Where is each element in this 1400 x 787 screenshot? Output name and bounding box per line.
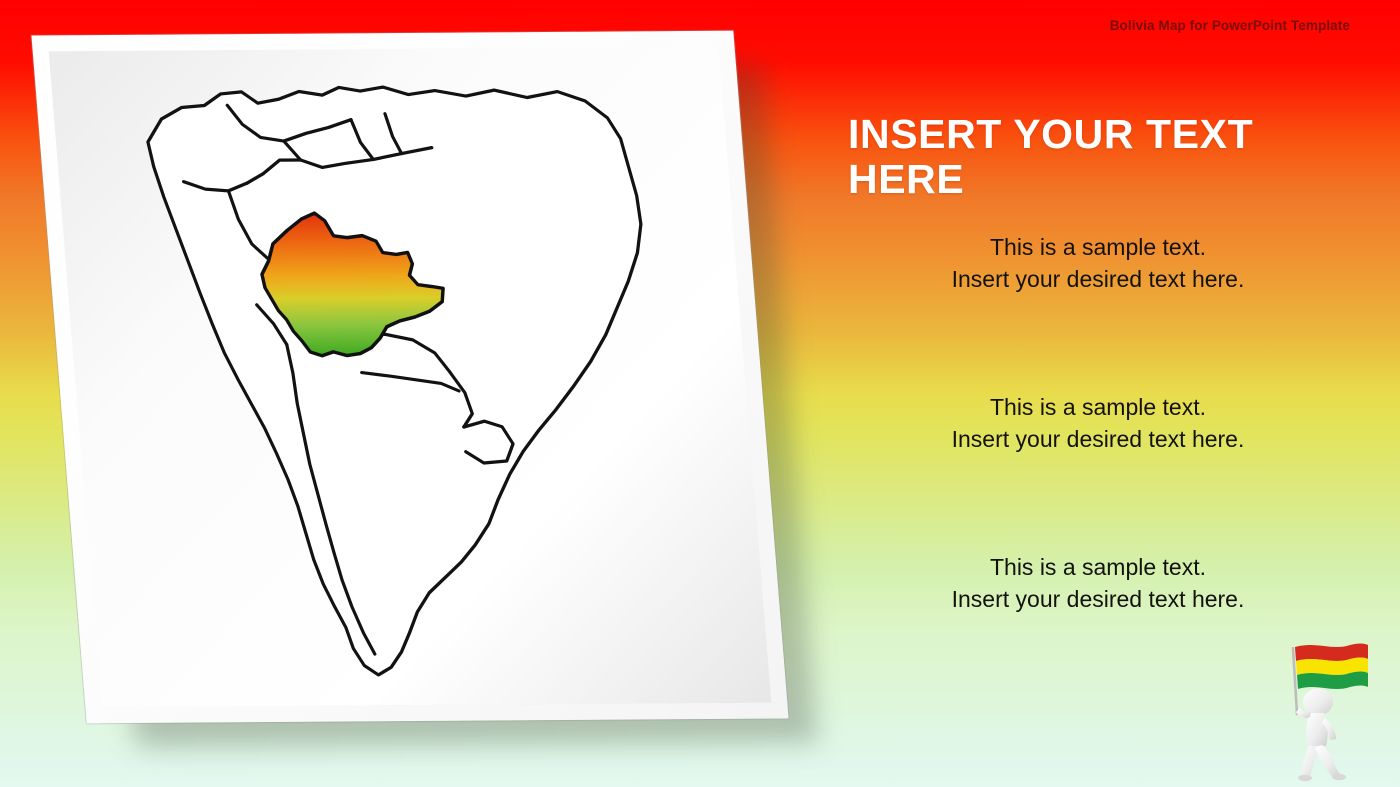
flag-mascot	[1272, 632, 1394, 784]
mascot-torso	[1306, 713, 1327, 746]
map-panel[interactable]	[31, 31, 788, 724]
text-block-1-line-1: This is a sample text.	[848, 232, 1348, 264]
text-block-1[interactable]: This is a sample text. Insert your desir…	[848, 232, 1348, 295]
text-block-2[interactable]: This is a sample text. Insert your desir…	[848, 392, 1348, 455]
mascot-leg-front	[1315, 745, 1341, 779]
mascot-foot-rear	[1298, 775, 1312, 781]
bolivia-flag-icon	[1295, 644, 1368, 690]
text-block-1-line-2: Insert your desired text here.	[848, 264, 1348, 296]
map-stage	[0, 0, 880, 787]
mascot-head	[1303, 689, 1333, 716]
text-block-2-line-1: This is a sample text.	[848, 392, 1348, 424]
template-caption: Bolivia Map for PowerPoint Template	[1110, 18, 1350, 33]
text-block-3-line-2: Insert your desired text here.	[848, 584, 1348, 616]
flag-mascot-icon	[1272, 632, 1394, 784]
south-america-map-svg	[49, 47, 772, 708]
text-block-3[interactable]: This is a sample text. Insert your desir…	[848, 552, 1348, 615]
slide-root: Bolivia Map for PowerPoint Template	[0, 0, 1400, 787]
map-canvas	[49, 47, 772, 708]
text-block-3-line-1: This is a sample text.	[848, 552, 1348, 584]
mascot-foot-front	[1332, 774, 1346, 780]
page-title: INSERT YOUR TEXT HERE	[848, 112, 1328, 202]
text-block-2-line-2: Insert your desired text here.	[848, 424, 1348, 456]
